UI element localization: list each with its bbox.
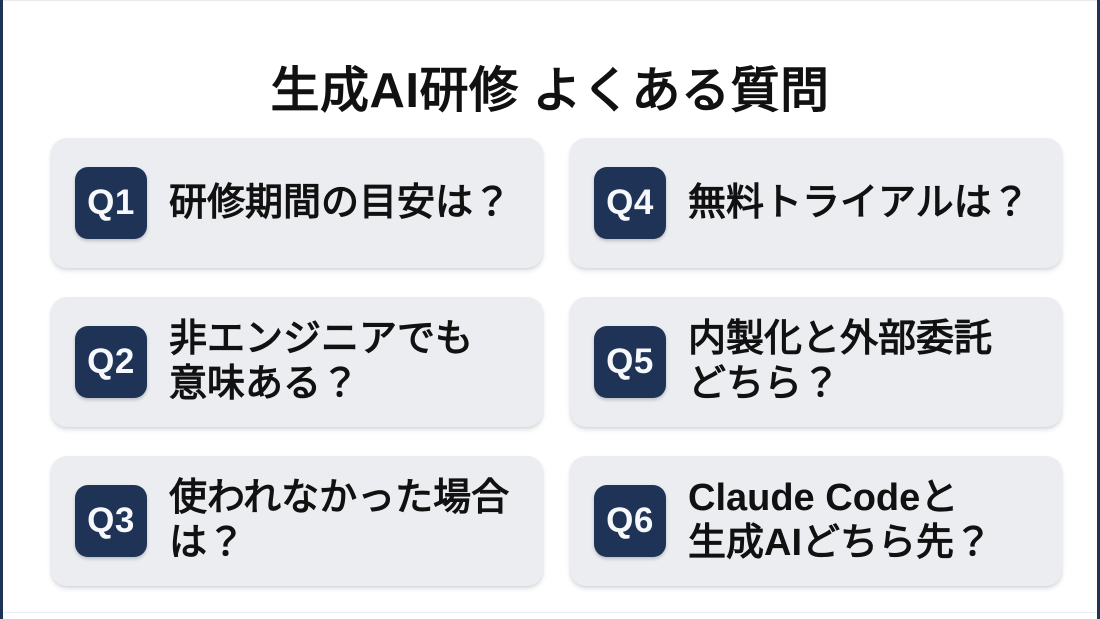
faq-question-q6: Claude Codeと 生成AIどちら先？ [688, 476, 992, 566]
faq-card-q4[interactable]: Q4 無料トライアルは？ [570, 138, 1062, 268]
faq-card-q5[interactable]: Q5 内製化と外部委託 どちら？ [570, 297, 1062, 427]
faq-question-line: 非エンジニアでも [169, 317, 473, 362]
faq-question-line: Claude Codeと [688, 476, 992, 521]
slide-canvas: 生成AI研修 よくある質問 Q1 研修期間の目安は？ Q4 無料トライアルは？ … [0, 0, 1100, 619]
faq-question-line: 生成AIどちら先？ [688, 521, 992, 566]
faq-badge-q5: Q5 [594, 326, 666, 398]
faq-question-line: どちら？ [688, 362, 992, 407]
bottom-divider [3, 612, 1097, 613]
faq-card-q1[interactable]: Q1 研修期間の目安は？ [51, 138, 543, 268]
faq-question-line: 使われなかった場合 [169, 476, 509, 521]
faq-question-q4: 無料トライアルは？ [688, 181, 1030, 226]
faq-question-q2: 非エンジニアでも 意味ある？ [169, 317, 473, 407]
faq-card-q2[interactable]: Q2 非エンジニアでも 意味ある？ [51, 297, 543, 427]
faq-question-line: 無料トライアルは？ [688, 181, 1030, 226]
faq-question-line: 研修期間の目安は？ [169, 181, 511, 226]
faq-question-line: は？ [169, 521, 509, 566]
page-title: 生成AI研修 よくある質問 [3, 63, 1097, 119]
faq-badge-q1: Q1 [75, 167, 147, 239]
top-divider [3, 0, 1097, 1]
faq-card-grid: Q1 研修期間の目安は？ Q4 無料トライアルは？ Q2 非エンジニアでも 意味… [51, 138, 1055, 586]
faq-question-q3: 使われなかった場合 は？ [169, 476, 509, 566]
faq-badge-q2: Q2 [75, 326, 147, 398]
faq-card-q6[interactable]: Q6 Claude Codeと 生成AIどちら先？ [570, 456, 1062, 586]
faq-card-q3[interactable]: Q3 使われなかった場合 は？ [51, 456, 543, 586]
faq-badge-q3: Q3 [75, 485, 147, 557]
faq-question-line: 意味ある？ [169, 362, 473, 407]
faq-question-q5: 内製化と外部委託 どちら？ [688, 317, 992, 407]
faq-question-q1: 研修期間の目安は？ [169, 181, 511, 226]
faq-badge-q4: Q4 [594, 167, 666, 239]
faq-question-line: 内製化と外部委託 [688, 317, 992, 362]
faq-badge-q6: Q6 [594, 485, 666, 557]
